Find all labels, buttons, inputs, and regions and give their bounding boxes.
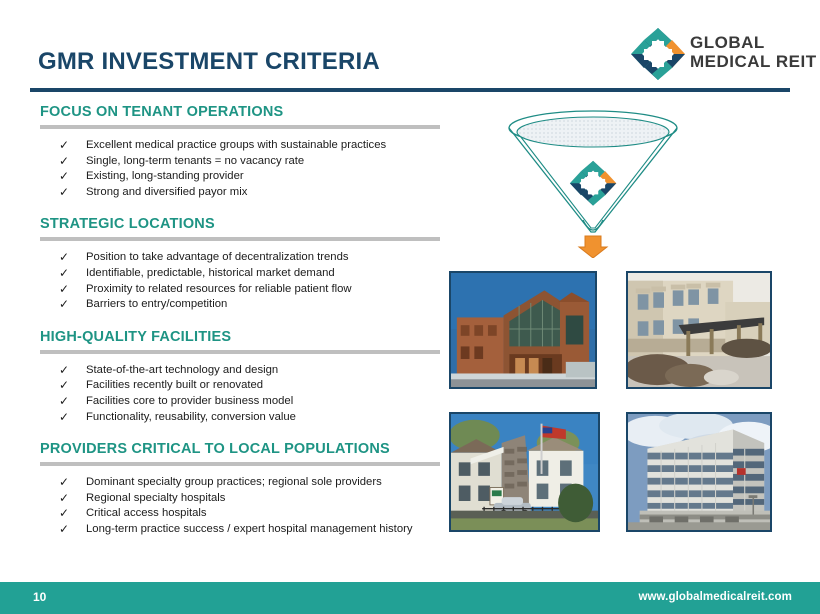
- photo-tan-facility-canopy: [626, 271, 772, 389]
- gmr-logo: GLOBAL MEDICAL REIT: [630, 26, 795, 82]
- section-divider: [40, 462, 440, 466]
- criteria-section: FOCUS ON TENANT OPERATIONS✓Excellent med…: [40, 104, 440, 216]
- bullet-item: ✓Dominant specialty group practices; reg…: [40, 475, 440, 491]
- bullet-list: ✓Excellent medical practice groups with …: [40, 138, 440, 200]
- section-heading: HIGH-QUALITY FACILITIES: [40, 329, 440, 345]
- bullet-item: ✓Single, long-term tenants = no vacancy …: [40, 154, 440, 170]
- page-title: GMR INVESTMENT CRITERIA: [38, 48, 380, 76]
- criteria-section: HIGH-QUALITY FACILITIES✓State-of-the-art…: [40, 329, 440, 441]
- section-divider: [40, 125, 440, 129]
- bullet-text: Barriers to entry/competition: [86, 298, 227, 310]
- check-icon: ✓: [59, 377, 69, 393]
- bullet-item: ✓Proximity to related resources for reli…: [40, 282, 440, 298]
- medical-cross-diamond-icon: [630, 27, 686, 81]
- check-icon: ✓: [59, 153, 69, 169]
- bullet-text: Regional specialty hospitals: [86, 492, 225, 504]
- bullet-text: Excellent medical practice groups with s…: [86, 139, 386, 151]
- check-icon: ✓: [59, 409, 69, 425]
- logo-line-2: MEDICAL REIT: [690, 52, 817, 71]
- bullet-item: ✓Barriers to entry/competition: [40, 297, 440, 313]
- check-icon: ✓: [59, 521, 69, 537]
- bullet-text: Dominant specialty group practices; regi…: [86, 476, 382, 488]
- check-icon: ✓: [59, 474, 69, 490]
- bullet-text: Position to take advantage of decentrali…: [86, 251, 349, 263]
- check-icon: ✓: [59, 393, 69, 409]
- bullet-text: Single, long-term tenants = no vacancy r…: [86, 155, 304, 167]
- bullet-list: ✓State-of-the-art technology and design✓…: [40, 363, 440, 425]
- bullet-item: ✓Long-term practice success / expert hos…: [40, 522, 440, 538]
- check-icon: ✓: [59, 296, 69, 312]
- criteria-sections: FOCUS ON TENANT OPERATIONS✓Excellent med…: [40, 104, 440, 554]
- footer-url[interactable]: www.globalmedicalreit.com: [638, 591, 792, 603]
- photo-stone-clinic-flag: [449, 412, 600, 532]
- bullet-list: ✓Dominant specialty group practices; reg…: [40, 475, 440, 537]
- check-icon: ✓: [59, 265, 69, 281]
- logo-line-1: GLOBAL: [690, 33, 817, 52]
- photo-office-tower: [626, 412, 772, 532]
- bullet-text: Existing, long-standing provider: [86, 170, 244, 182]
- bullet-text: Strong and diversified payor mix: [86, 186, 247, 198]
- section-divider: [40, 350, 440, 354]
- page-number: 10: [33, 590, 46, 604]
- section-spacer: [40, 200, 440, 216]
- bullet-text: Functionality, reusability, conversion v…: [86, 411, 296, 423]
- bullet-text: Critical access hospitals: [86, 507, 207, 519]
- bullet-item: ✓Existing, long-standing provider: [40, 169, 440, 185]
- section-divider: [40, 237, 440, 241]
- check-icon: ✓: [59, 249, 69, 265]
- check-icon: ✓: [59, 281, 69, 297]
- criteria-section: PROVIDERS CRITICAL TO LOCAL POPULATIONS✓…: [40, 441, 440, 553]
- bullet-item: ✓Functionality, reusability, conversion …: [40, 410, 440, 426]
- bullet-item: ✓Position to take advantage of decentral…: [40, 250, 440, 266]
- check-icon: ✓: [59, 168, 69, 184]
- bullet-item: ✓Regional specialty hospitals: [40, 491, 440, 507]
- bullet-text: State-of-the-art technology and design: [86, 364, 278, 376]
- section-heading: FOCUS ON TENANT OPERATIONS: [40, 104, 440, 120]
- bullet-text: Facilities core to provider business mod…: [86, 395, 293, 407]
- photo-brick-medical-office: [449, 271, 597, 389]
- footer-bar: 10 www.globalmedicalreit.com: [0, 582, 820, 614]
- bullet-item: ✓State-of-the-art technology and design: [40, 363, 440, 379]
- criteria-section: STRATEGIC LOCATIONS✓Position to take adv…: [40, 216, 440, 328]
- bullet-item: ✓Critical access hospitals: [40, 506, 440, 522]
- section-heading: STRATEGIC LOCATIONS: [40, 216, 440, 232]
- title-divider: [30, 88, 790, 92]
- section-heading: PROVIDERS CRITICAL TO LOCAL POPULATIONS: [40, 441, 440, 457]
- check-icon: ✓: [59, 490, 69, 506]
- slide: GMR INVESTMENT CRITERIA GLOBA: [0, 0, 820, 614]
- check-icon: ✓: [59, 362, 69, 378]
- section-spacer: [40, 313, 440, 329]
- bullet-item: ✓Excellent medical practice groups with …: [40, 138, 440, 154]
- check-icon: ✓: [59, 184, 69, 200]
- section-spacer: [40, 538, 440, 554]
- bullet-item: ✓Strong and diversified payor mix: [40, 185, 440, 201]
- bullet-text: Proximity to related resources for relia…: [86, 283, 352, 295]
- bullet-item: ✓Facilities recently built or renovated: [40, 378, 440, 394]
- bullet-text: Identifiable, predictable, historical ma…: [86, 267, 335, 279]
- funnel-diagram: [503, 108, 683, 258]
- bullet-item: ✓Facilities core to provider business mo…: [40, 394, 440, 410]
- bullet-list: ✓Position to take advantage of decentral…: [40, 250, 440, 312]
- check-icon: ✓: [59, 137, 69, 153]
- check-icon: ✓: [59, 505, 69, 521]
- bullet-item: ✓Identifiable, predictable, historical m…: [40, 266, 440, 282]
- section-spacer: [40, 425, 440, 441]
- bullet-text: Long-term practice success / expert hosp…: [86, 523, 413, 535]
- down-arrow-icon: [579, 236, 607, 258]
- bullet-text: Facilities recently built or renovated: [86, 379, 263, 391]
- logo-wordmark: GLOBAL MEDICAL REIT: [690, 33, 817, 71]
